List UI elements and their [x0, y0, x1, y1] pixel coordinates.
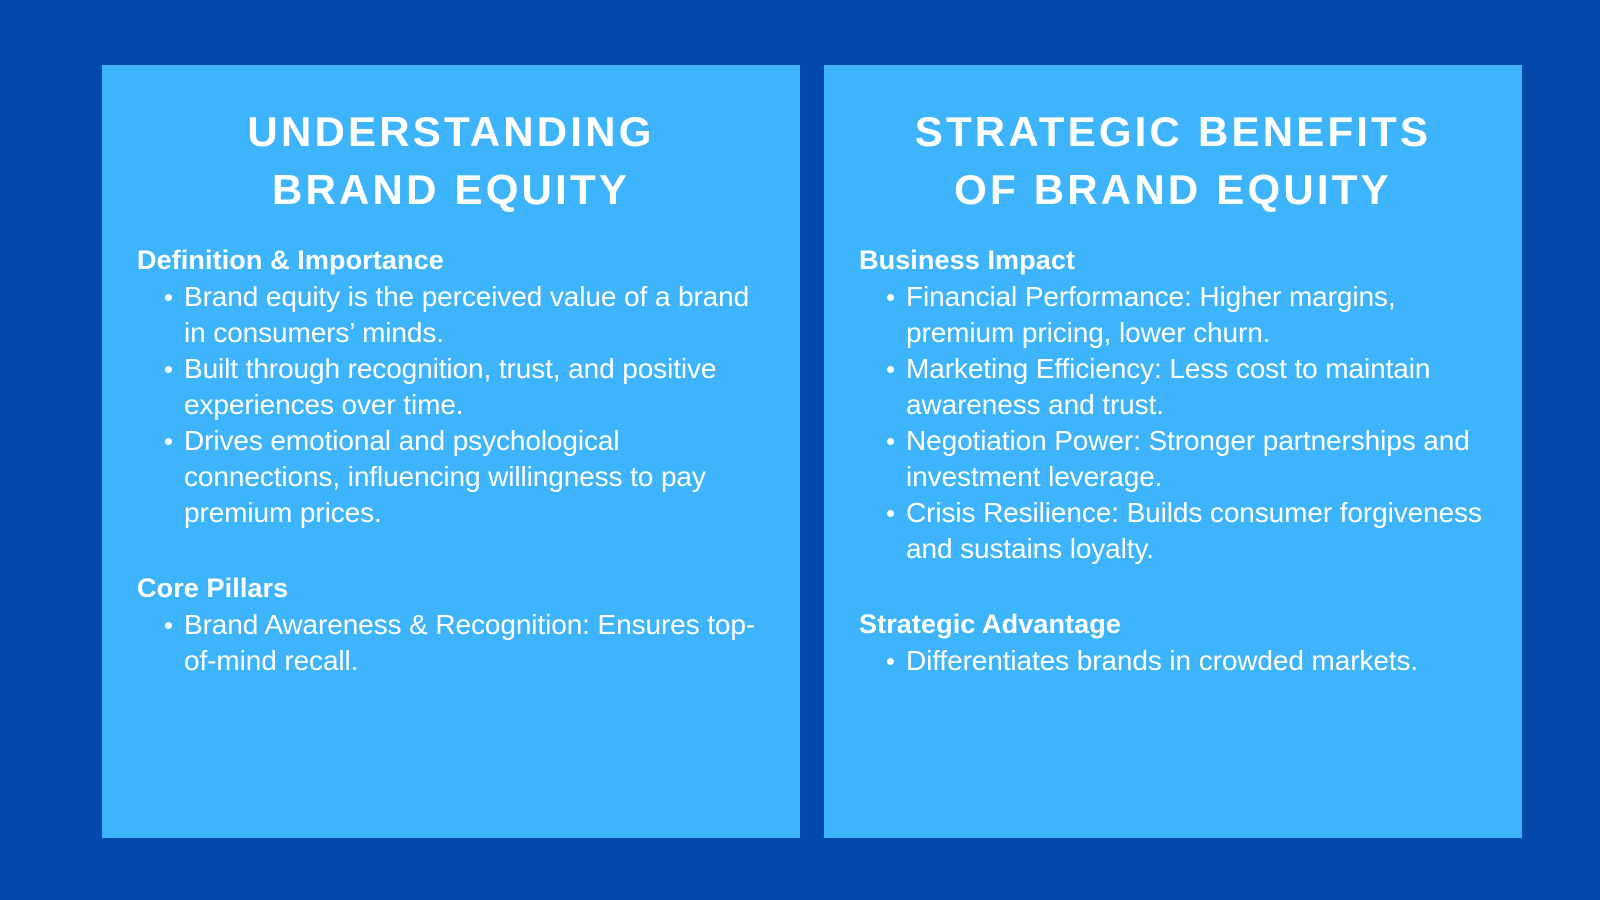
section-definition-importance: Definition & Importance Brand equity is … — [137, 243, 770, 531]
bullet-dot-icon — [887, 438, 894, 445]
list-item: Differentiates brands in crowded markets… — [859, 643, 1492, 679]
bullet-text: Brand equity is the perceived value of a… — [184, 281, 749, 348]
bullet-text: Drives emotional and psychological conne… — [184, 425, 706, 528]
bullet-list: Brand Awareness & Recognition: Ensures t… — [137, 607, 770, 679]
bullet-text: Brand Awareness & Recognition: Ensures t… — [184, 609, 755, 676]
slide-root: Understanding Brand Equity Definition & … — [0, 0, 1600, 900]
bullet-text: Crisis Resilience: Builds consumer forgi… — [906, 497, 1482, 564]
bullet-text: Marketing Efficiency: Less cost to maint… — [906, 353, 1430, 420]
list-item: Built through recognition, trust, and po… — [137, 351, 770, 423]
section-heading: Strategic Advantage — [859, 607, 1492, 641]
section-core-pillars: Core Pillars Brand Awareness & Recogniti… — [137, 571, 770, 679]
bullet-dot-icon — [887, 294, 894, 301]
panel-title: Strategic Benefits of Brand Equity — [824, 65, 1522, 219]
bullet-text: Financial Performance: Higher margins, p… — [906, 281, 1396, 348]
section-strategic-advantage: Strategic Advantage Differentiates brand… — [859, 607, 1492, 679]
list-item: Brand equity is the perceived value of a… — [137, 279, 770, 351]
section-business-impact: Business Impact Financial Performance: H… — [859, 243, 1492, 567]
section-heading: Core Pillars — [137, 571, 770, 605]
panel-understanding-brand-equity: Understanding Brand Equity Definition & … — [102, 65, 800, 838]
section-heading: Definition & Importance — [137, 243, 770, 277]
bullet-dot-icon — [887, 658, 894, 665]
bullet-dot-icon — [887, 510, 894, 517]
bullet-list: Differentiates brands in crowded markets… — [859, 643, 1492, 679]
bullet-dot-icon — [165, 294, 172, 301]
list-item: Marketing Efficiency: Less cost to maint… — [859, 351, 1492, 423]
bullet-text: Built through recognition, trust, and po… — [184, 353, 716, 420]
section-heading: Business Impact — [859, 243, 1492, 277]
panel-body: Business Impact Financial Performance: H… — [824, 243, 1522, 679]
list-item: Crisis Resilience: Builds consumer forgi… — [859, 495, 1492, 567]
panel-container: Understanding Brand Equity Definition & … — [102, 65, 1522, 838]
bullet-dot-icon — [165, 438, 172, 445]
list-item: Financial Performance: Higher margins, p… — [859, 279, 1492, 351]
bullet-list: Financial Performance: Higher margins, p… — [859, 279, 1492, 567]
list-item: Drives emotional and psychological conne… — [137, 423, 770, 531]
bullet-dot-icon — [165, 622, 172, 629]
bullet-list: Brand equity is the perceived value of a… — [137, 279, 770, 531]
panel-title: Understanding Brand Equity — [102, 65, 800, 219]
panel-body: Definition & Importance Brand equity is … — [102, 243, 800, 679]
panel-strategic-benefits: Strategic Benefits of Brand Equity Busin… — [824, 65, 1522, 838]
bullet-text: Differentiates brands in crowded markets… — [906, 645, 1418, 676]
bullet-dot-icon — [887, 366, 894, 373]
bullet-text: Negotiation Power: Stronger partnerships… — [906, 425, 1470, 492]
list-item: Brand Awareness & Recognition: Ensures t… — [137, 607, 770, 679]
bullet-dot-icon — [165, 366, 172, 373]
list-item: Negotiation Power: Stronger partnerships… — [859, 423, 1492, 495]
